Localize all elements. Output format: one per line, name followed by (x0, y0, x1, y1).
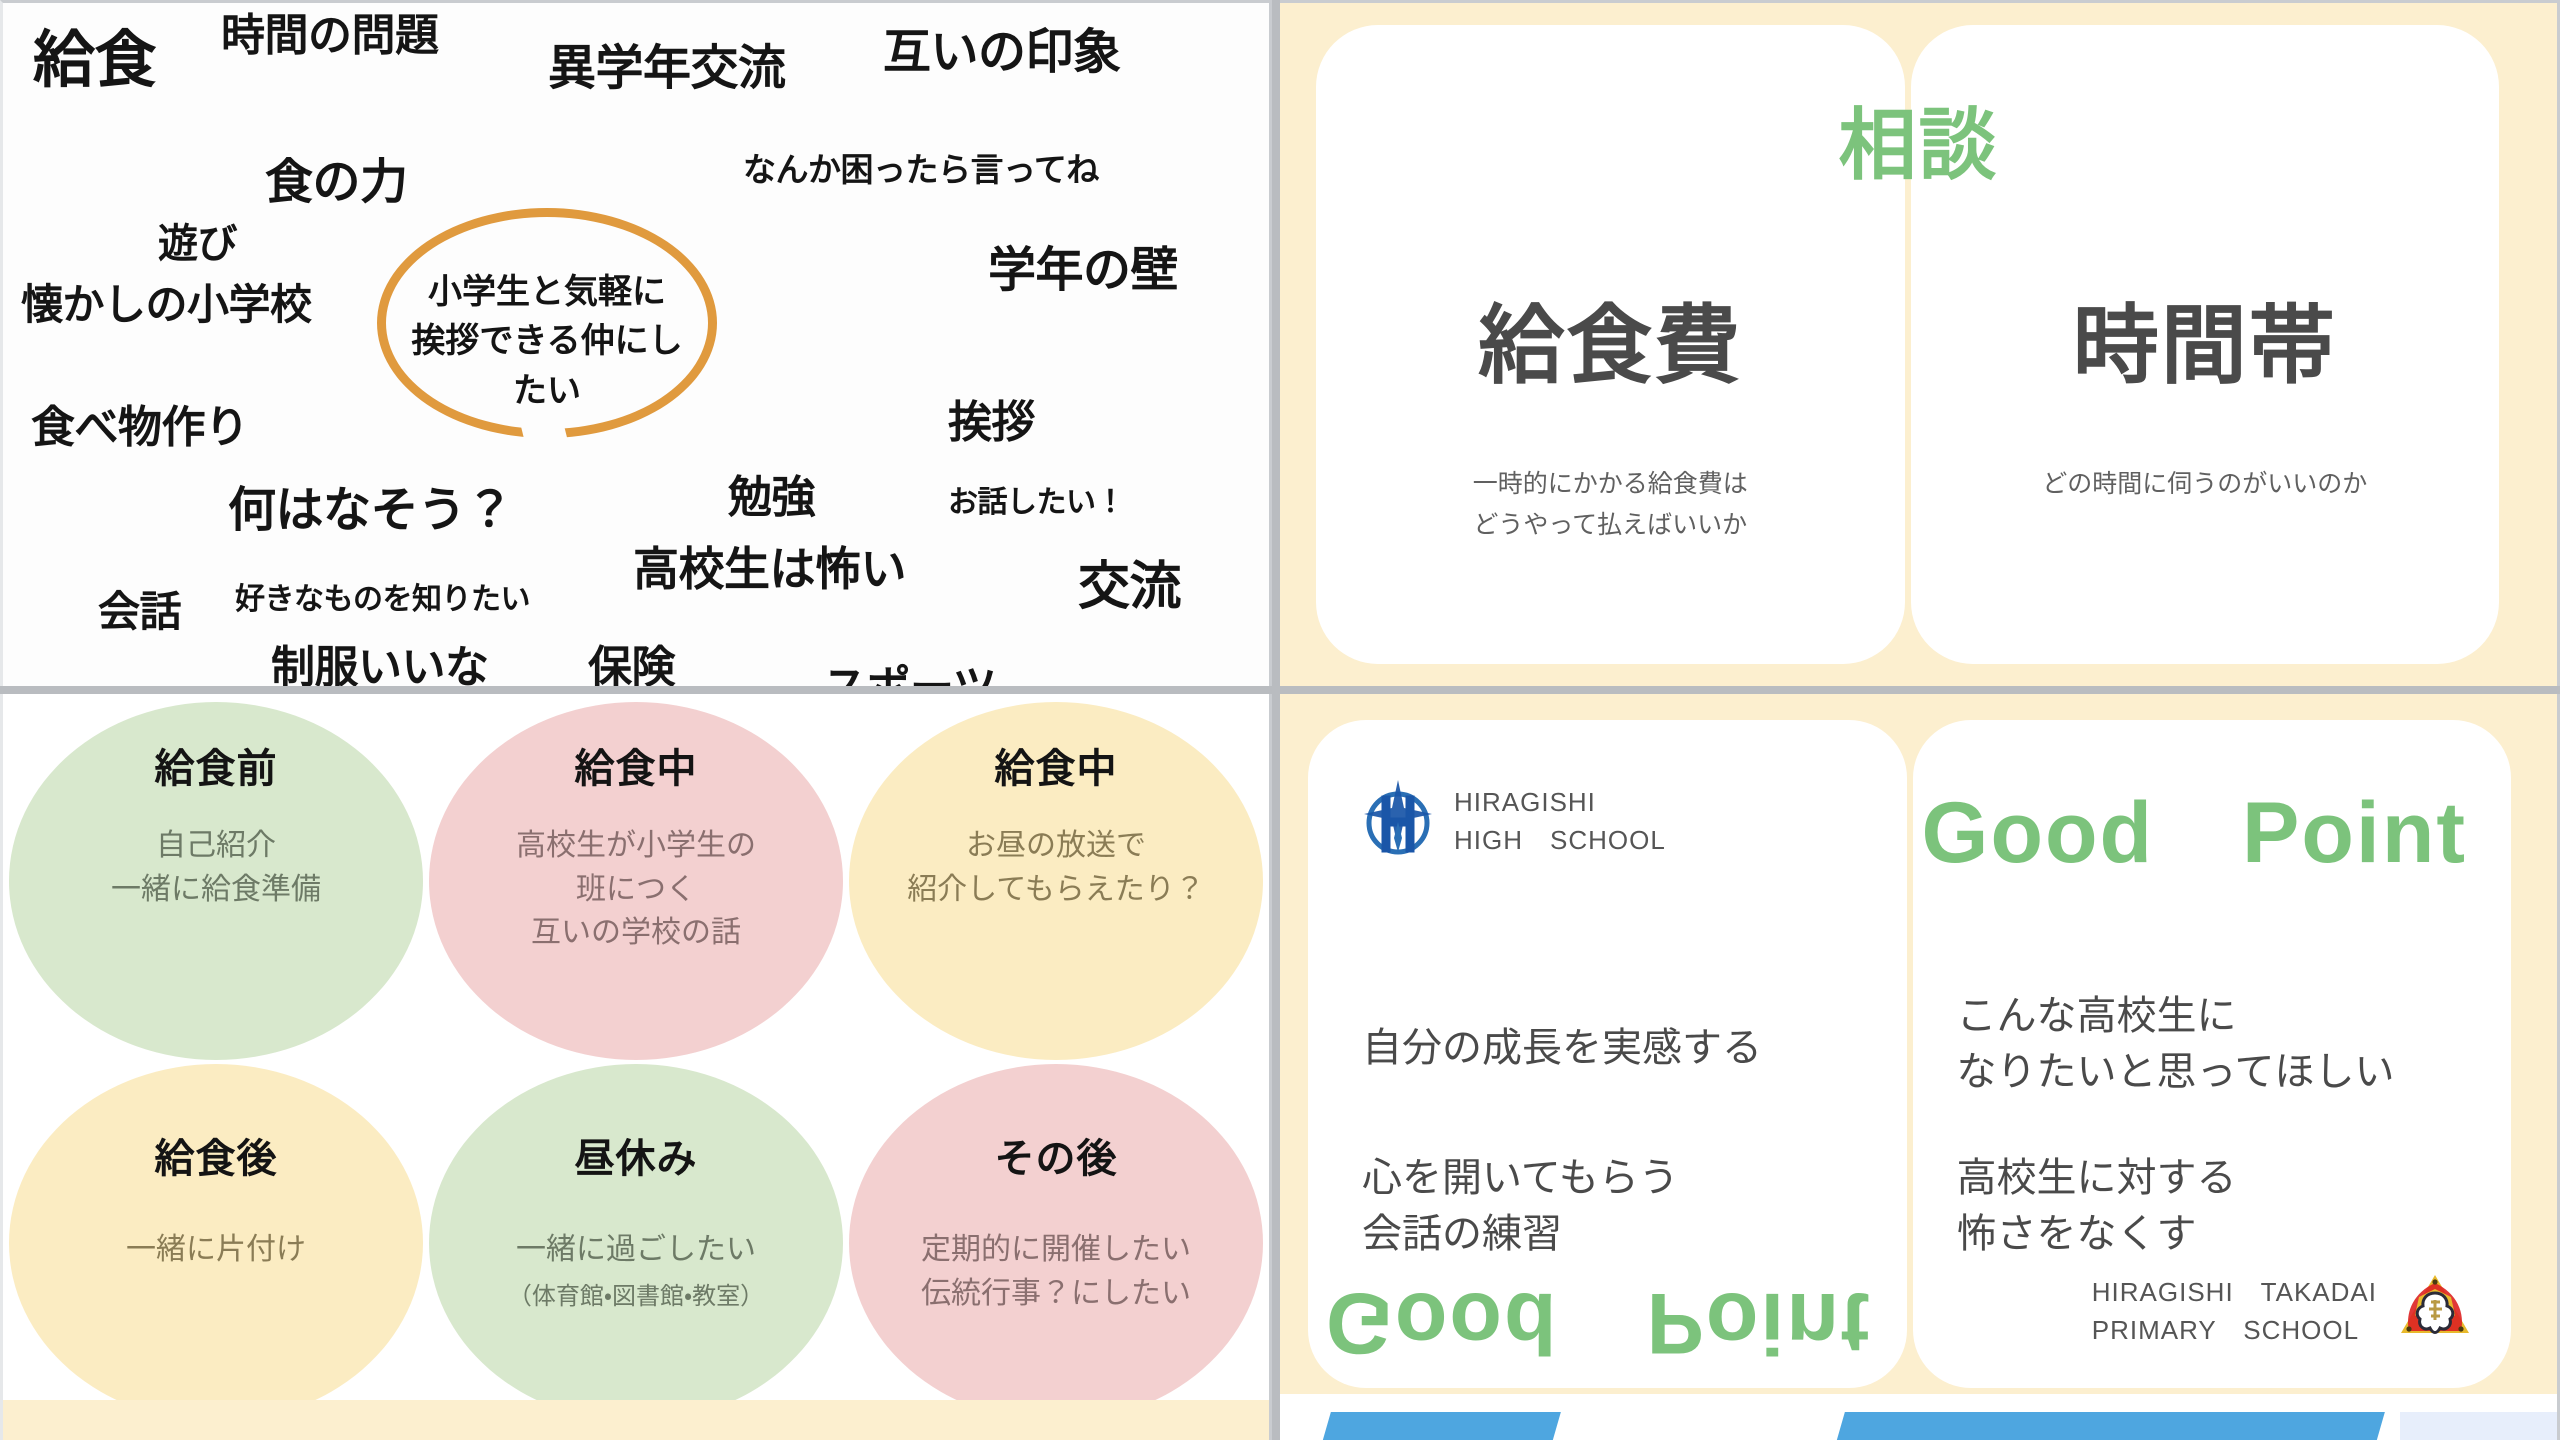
slide-soudan[interactable]: 給食費 一時的にかかる給食費は どうやって払えばいいか 時間帯 どの時間に伺うの… (1280, 0, 2560, 686)
word-cloud-term: なんか困ったら言ってね (743, 151, 1099, 189)
soudan-keyword-2: 時間帯 (1911, 275, 2500, 400)
good-point-card-row: HIRAGISHI HIGH SCHOOL 自分の成長を実感する 心を開いてもら… (1308, 720, 2511, 1388)
bubble-body: お昼の放送で 紹介してもらえたり？ (891, 824, 1221, 911)
soudan-detail-2: どの時間に伺うのがいいのか (1911, 464, 2500, 505)
timeline-bubble: その後定期的に開催したい 伝統行事？にしたい (849, 1064, 1263, 1422)
hiragishi-takadai-primary-school-name: HIRAGISHI TAKADAI PRIMARY SCHOOL (2092, 1274, 2377, 1349)
word-cloud-term: 遊び (158, 221, 237, 267)
highlight-text: 小学生と気軽に 挨拶できる仲にしたい (401, 268, 693, 416)
blue-shape-left (1321, 1412, 1561, 1440)
bubble-title: 昼休み (575, 1126, 698, 1184)
soudan-column-2: 時間帯 どの時間に伺うのがいいのか (1911, 275, 2500, 505)
bubble-body: 一緒に片付け (110, 1228, 322, 1272)
word-cloud-term: 給食 (33, 25, 156, 96)
hiragishi-high-school-badge: HIRAGISHI HIGH SCHOOL (1360, 778, 1666, 865)
ellipse-gap-mask (521, 416, 567, 448)
word-cloud-term: 懐かしの小学校 (21, 281, 312, 329)
hiragishi-high-school-logo-icon (1360, 778, 1436, 865)
word-cloud-term: 時間の問題 (221, 11, 439, 62)
soudan-title: 相談 (1280, 83, 2557, 195)
slide-good-point[interactable]: HIRAGISHI HIGH SCHOOL 自分の成長を実感する 心を開いてもら… (1280, 694, 2560, 1440)
soudan-detail-1: 一時的にかかる給食費は どうやって払えばいいか (1316, 464, 1905, 547)
slide-deck: 給食時間の問題異学年交流互いの印象食の力なんか困ったら言ってね遊び学年の壁懐かし… (0, 0, 2560, 1440)
next-slide-peek-right (1280, 1394, 2560, 1440)
word-cloud-term: お話したい！ (948, 486, 1125, 521)
slide-timeline-circles[interactable]: 給食前自己紹介 一緒に給食準備給食中高校生が小学生の 班につく 互いの学校の話給… (0, 694, 1272, 1440)
timeline-bubble: 給食後一緒に片付け (9, 1064, 423, 1422)
highlight-line-1: 小学生と気軽に (401, 268, 693, 317)
soudan-keyword-1: 給食費 (1316, 275, 1905, 400)
row-divider-left (0, 686, 1272, 694)
row-divider-right (1280, 686, 2560, 694)
word-cloud-term: 食の力 (265, 155, 408, 210)
bubble-note: （体育館・図書館・教室） (508, 1276, 764, 1311)
highlight-line-2: 挨拶できる仲にしたい (401, 317, 693, 416)
bubble-grid: 給食前自己紹介 一緒に給食準備給食中高校生が小学生の 班につく 互いの学校の話給… (9, 702, 1263, 1422)
good-point-title-mirrored: Good Point (1326, 1269, 1871, 1388)
bubble-body: 高校生が小学生の 班につく 互いの学校の話 (500, 824, 772, 955)
blue-shape-right (1835, 1412, 2385, 1440)
word-cloud-term: 互いの印象 (883, 25, 1121, 80)
word-cloud-term: 会話 (98, 588, 181, 636)
word-cloud-term: 学年の壁 (988, 243, 1178, 298)
bubble-body: 一緒に過ごしたい (500, 1228, 772, 1272)
word-cloud-term: 交流 (1078, 558, 1181, 618)
word-cloud-term: 食べ物作り (31, 403, 249, 454)
good-point-right-line-1: こんな高校生に なりたいと思ってほしい (1957, 988, 2395, 1100)
word-cloud-term: 何はなそう？ (228, 483, 513, 538)
word-cloud-term: 制服いいな (271, 643, 489, 686)
word-cloud-term: 保険 (588, 643, 675, 686)
bubble-title: 給食前 (155, 736, 278, 794)
hiragishi-takadai-primary-school-logo-icon (2395, 1269, 2475, 1354)
bubble-title: 給食中 (995, 736, 1118, 794)
soudan-column-1: 給食費 一時的にかかる給食費は どうやって払えばいいか (1316, 275, 1905, 547)
next-slide-peek-left (3, 1400, 1272, 1440)
good-point-title: Good Point (1922, 762, 2467, 887)
word-cloud-term: 異学年交流 (548, 41, 786, 96)
good-point-left-line-1: 自分の成長を実感する (1362, 1020, 1762, 1076)
timeline-bubble: 給食中お昼の放送で 紹介してもらえたり？ (849, 702, 1263, 1060)
word-cloud-term: 好きなものを知りたい (235, 583, 530, 618)
divider-crossing (1272, 686, 1280, 694)
bubble-title: その後 (995, 1126, 1118, 1184)
good-point-left-line-2: 心を開いてもらう 会話の練習 (1362, 1150, 1679, 1262)
good-point-card-right: Good Point こんな高校生に なりたいと思ってほしい 高校生に対する 怖… (1913, 720, 2512, 1388)
hiragishi-takadai-primary-school-badge: HIRAGISHI TAKADAI PRIMARY SCHOOL (2092, 1269, 2475, 1354)
column-divider-bottom (1272, 694, 1280, 1440)
word-cloud-term: 高校生は怖い (633, 543, 906, 596)
timeline-bubble: 昼休み一緒に過ごしたい（体育館・図書館・教室） (429, 1064, 843, 1422)
bubble-body: 自己紹介 一緒に給食準備 (95, 824, 337, 911)
slide-word-cloud[interactable]: 給食時間の問題異学年交流互いの印象食の力なんか困ったら言ってね遊び学年の壁懐かし… (0, 0, 1272, 686)
good-point-right-line-2: 高校生に対する 怖さをなくす (1957, 1150, 2237, 1262)
timeline-bubble: 給食前自己紹介 一緒に給食準備 (9, 702, 423, 1060)
good-point-card-left: HIRAGISHI HIGH SCHOOL 自分の成長を実感する 心を開いてもら… (1308, 720, 1907, 1388)
timeline-bubble: 給食中高校生が小学生の 班につく 互いの学校の話 (429, 702, 843, 1060)
column-divider-top (1272, 0, 1280, 686)
word-cloud-term: スポーツ (823, 663, 996, 686)
hiragishi-high-school-name: HIRAGISHI HIGH SCHOOL (1454, 784, 1666, 859)
word-cloud-term: 挨拶 (948, 398, 1035, 449)
bubble-body: 定期的に開催したい 伝統行事？にしたい (905, 1228, 1207, 1315)
bubble-title: 給食中 (575, 736, 698, 794)
blue-shape-far-right (2400, 1412, 2560, 1440)
word-cloud-term: 勉強 (728, 473, 815, 524)
bubble-title: 給食後 (155, 1126, 278, 1184)
